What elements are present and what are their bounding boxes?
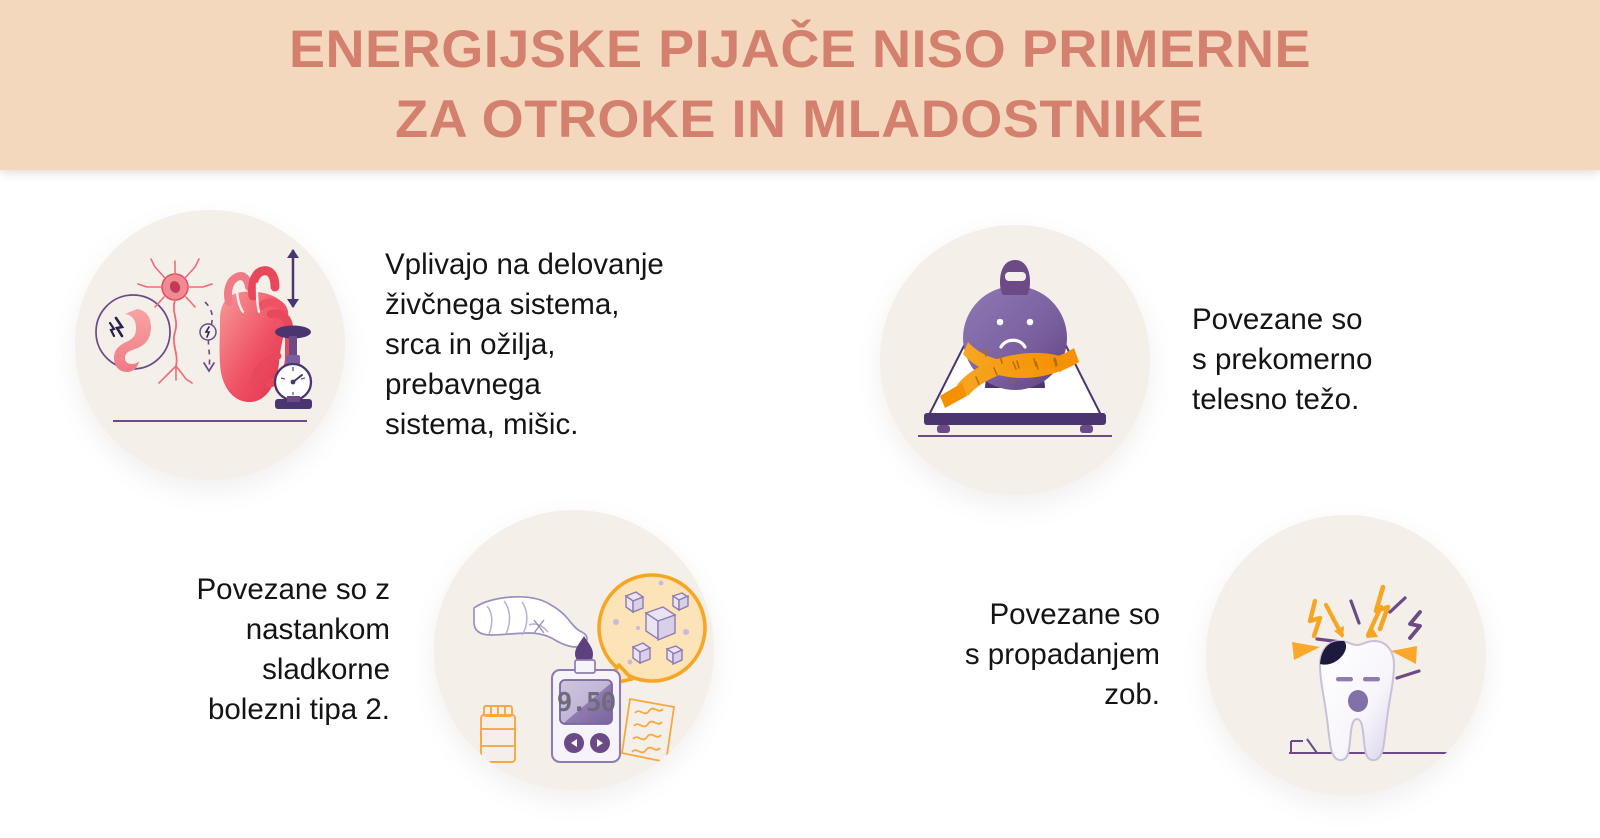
- hand-finger-icon: [474, 597, 587, 647]
- sugar-cubes-bubble-icon: [599, 575, 705, 685]
- tooth-icon: [1320, 641, 1394, 760]
- chart-paper-icon: [622, 699, 674, 762]
- pill-bottle-icon: [481, 706, 515, 762]
- item-diabetes: Povezane so z nastankom sladkorne bolezn…: [165, 510, 714, 790]
- item-overweight: Povezane so s prekomerno telesno težo.: [880, 225, 1422, 495]
- infographic-page: ENERGIJSKE PIJAČE NISO PRIMERNE ZA OTROK…: [0, 0, 1600, 838]
- page-title-line-1: ENERGIJSKE PIJAČE NISO PRIMERNE: [289, 15, 1311, 85]
- glucose-meter-illustration: 9.50: [434, 510, 714, 790]
- kettlebell-scale-illustration: [880, 225, 1150, 495]
- lightning-bolt-icon: [1310, 587, 1420, 638]
- item-tooth-decay: Povezane so s propadanjem zob.: [940, 515, 1486, 795]
- caption-diabetes: Povezane so z nastankom sladkorne bolezn…: [165, 570, 390, 730]
- caption-nervous-system: Vplivajo na delovanje živčnega sistema, …: [385, 245, 705, 445]
- heart-neuron-stomach-bloodpressure-illustration: [75, 210, 345, 480]
- caption-overweight: Povezane so s prekomerno telesno težo.: [1192, 300, 1422, 420]
- nerve-signal-icon: [200, 302, 216, 371]
- glucose-meter-icon: 9.50: [552, 660, 620, 762]
- stomach-icon: [96, 295, 170, 372]
- item-nervous-system: Vplivajo na delovanje živčnega sistema, …: [75, 210, 705, 480]
- content-area: Vplivajo na delovanje živčnega sistema, …: [0, 170, 1600, 838]
- caption-tooth-decay: Povezane so s propadanjem zob.: [940, 595, 1160, 715]
- decayed-tooth-illustration: [1206, 515, 1486, 795]
- glucose-reading: 9.50: [557, 688, 616, 718]
- page-title-line-2: ZA OTROKE IN MLADOSTNIKE: [395, 85, 1204, 155]
- header-band: ENERGIJSKE PIJAČE NISO PRIMERNE ZA OTROK…: [0, 0, 1600, 170]
